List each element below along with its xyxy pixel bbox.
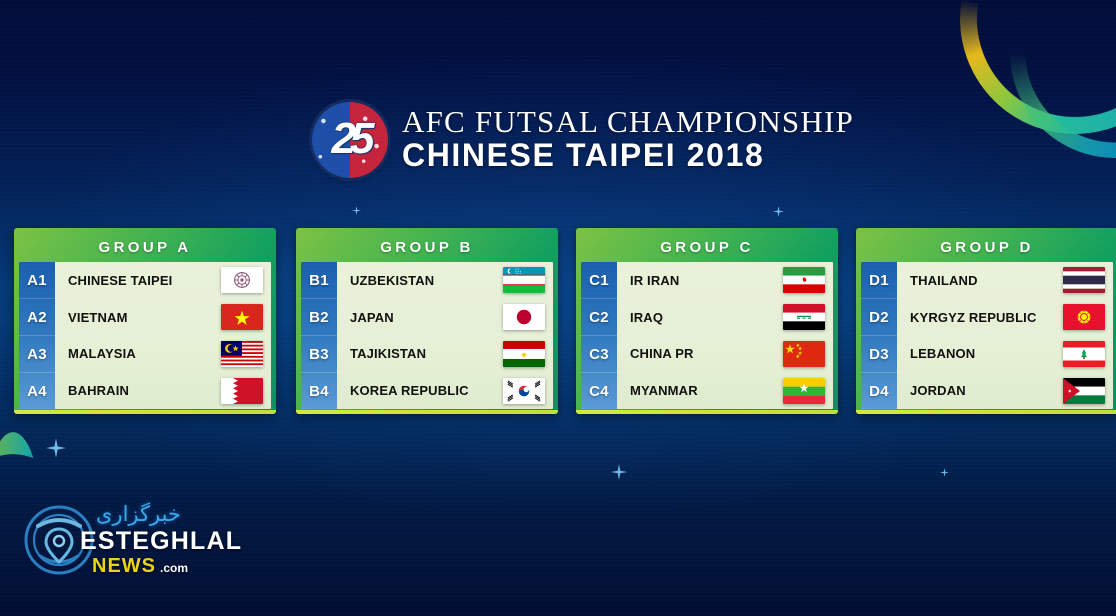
position-label: C3 <box>581 336 617 373</box>
team-name: TAJIKISTAN <box>350 346 497 361</box>
flag-china-pr <box>783 341 825 367</box>
team-row: MYANMAR <box>617 372 833 409</box>
watermark-logo: خبرگزاری ESTEGHLAL NEWS .com <box>18 494 218 602</box>
team-name: MALAYSIA <box>68 346 215 361</box>
position-label: B4 <box>301 373 337 409</box>
team-name: CHINA PR <box>630 346 777 361</box>
flag-bahrain <box>221 378 263 404</box>
screenshot-stage: 25 AFC FUTSAL CHAMPIONSHIP CHINESE TAIPE… <box>0 0 1116 616</box>
team-row: LEBANON <box>897 336 1113 373</box>
corner-arc-graphic-secondary <box>1010 0 1116 158</box>
sparkle-icon <box>611 464 627 480</box>
team-name: CHINESE TAIPEI <box>68 273 215 288</box>
watermark-farsi-text: خبرگزاری <box>80 504 220 525</box>
team-row: THAILAND <box>897 262 1113 299</box>
flag-tajikistan <box>503 341 545 367</box>
flag-jordan <box>1063 378 1105 404</box>
flag-japan <box>503 304 545 330</box>
position-label: C1 <box>581 262 617 299</box>
team-name: JORDAN <box>910 383 1057 398</box>
position-label: C2 <box>581 299 617 336</box>
team-row: MALAYSIA <box>55 336 271 373</box>
position-column: A1 A2 A3 A4 <box>19 262 55 409</box>
watermark-domain: .com <box>160 561 188 575</box>
logo-glyph: 25 <box>312 102 388 177</box>
watermark-news: NEWS <box>92 555 156 578</box>
team-name: IR IRAN <box>630 273 777 288</box>
team-row: VIETNAM <box>55 299 271 336</box>
flag-kyrgyz-republic <box>1063 304 1105 330</box>
group-header: GROUP D <box>861 232 1113 262</box>
team-name: THAILAND <box>910 273 1057 288</box>
flag-chinese-taipei <box>221 267 263 293</box>
group-card-a: GROUP A A1 A2 A3 A4 CHINESE TAIPEI <box>14 228 276 414</box>
title-block: 25 AFC FUTSAL CHAMPIONSHIP CHINESE TAIPE… <box>312 96 832 184</box>
position-label: A3 <box>19 336 55 373</box>
team-row: CHINESE TAIPEI <box>55 262 271 299</box>
group-card-b: GROUP B B1 B2 B3 B4 UZBEKISTAN <box>296 228 558 414</box>
team-row: JORDAN <box>897 372 1113 409</box>
position-label: B2 <box>301 299 337 336</box>
flag-korea-republic <box>503 378 545 404</box>
position-label: B1 <box>301 262 337 299</box>
team-name: LEBANON <box>910 346 1057 361</box>
position-label: D1 <box>861 262 897 299</box>
position-label: A1 <box>19 262 55 299</box>
group-header: GROUP C <box>581 232 833 262</box>
team-row: UZBEKISTAN <box>337 262 553 299</box>
team-row: IRAQ <box>617 299 833 336</box>
group-header: GROUP A <box>19 232 271 262</box>
team-name: BAHRAIN <box>68 383 215 398</box>
watermark-brand: ESTEGHLAL <box>80 528 220 554</box>
team-row: KOREA REPUBLIC <box>337 372 553 409</box>
flag-uzbekistan <box>503 267 545 293</box>
team-row: BAHRAIN <box>55 372 271 409</box>
position-label: D4 <box>861 373 897 409</box>
afc-futsal-championship-logo-icon: 25 <box>312 102 388 178</box>
position-label: D2 <box>861 299 897 336</box>
group-card-d: GROUP D D1 D2 D3 D4 THAILAND <box>856 228 1116 414</box>
flag-myanmar <box>783 378 825 404</box>
team-name: MYANMAR <box>630 383 777 398</box>
team-row: JAPAN <box>337 299 553 336</box>
sparkle-icon <box>46 438 66 458</box>
team-name: IRAQ <box>630 310 777 325</box>
flag-iraq <box>783 304 825 330</box>
team-name: VIETNAM <box>68 310 215 325</box>
sparkle-icon <box>773 206 784 217</box>
position-column: B1 B2 B3 B4 <box>301 262 337 409</box>
sparkle-icon <box>352 206 361 215</box>
team-name: UZBEKISTAN <box>350 273 497 288</box>
position-label: C4 <box>581 373 617 409</box>
position-label: D3 <box>861 336 897 373</box>
team-row: TAJIKISTAN <box>337 336 553 373</box>
position-column: C1 C2 C3 C4 <box>581 262 617 409</box>
group-card-c: GROUP C C1 C2 C3 C4 IR IRAN <box>576 228 838 414</box>
position-label: A4 <box>19 373 55 409</box>
position-label: B3 <box>301 336 337 373</box>
team-row: KYRGYZ REPUBLIC <box>897 299 1113 336</box>
team-name: JAPAN <box>350 310 497 325</box>
position-label: A2 <box>19 299 55 336</box>
page-title: AFC FUTSAL CHAMPIONSHIP <box>402 106 854 139</box>
flag-lebanon <box>1063 341 1105 367</box>
team-row: IR IRAN <box>617 262 833 299</box>
flag-vietnam <box>221 304 263 330</box>
team-name: KYRGYZ REPUBLIC <box>910 310 1057 325</box>
flag-ir-iran <box>783 267 825 293</box>
page-subtitle: CHINESE TAIPEI 2018 <box>402 138 854 174</box>
team-row: CHINA PR <box>617 336 833 373</box>
group-header: GROUP B <box>301 232 553 262</box>
position-column: D1 D2 D3 D4 <box>861 262 897 409</box>
team-name: KOREA REPUBLIC <box>350 383 497 398</box>
sparkle-icon <box>940 468 949 477</box>
flag-thailand <box>1063 267 1105 293</box>
flag-malaysia <box>221 341 263 367</box>
